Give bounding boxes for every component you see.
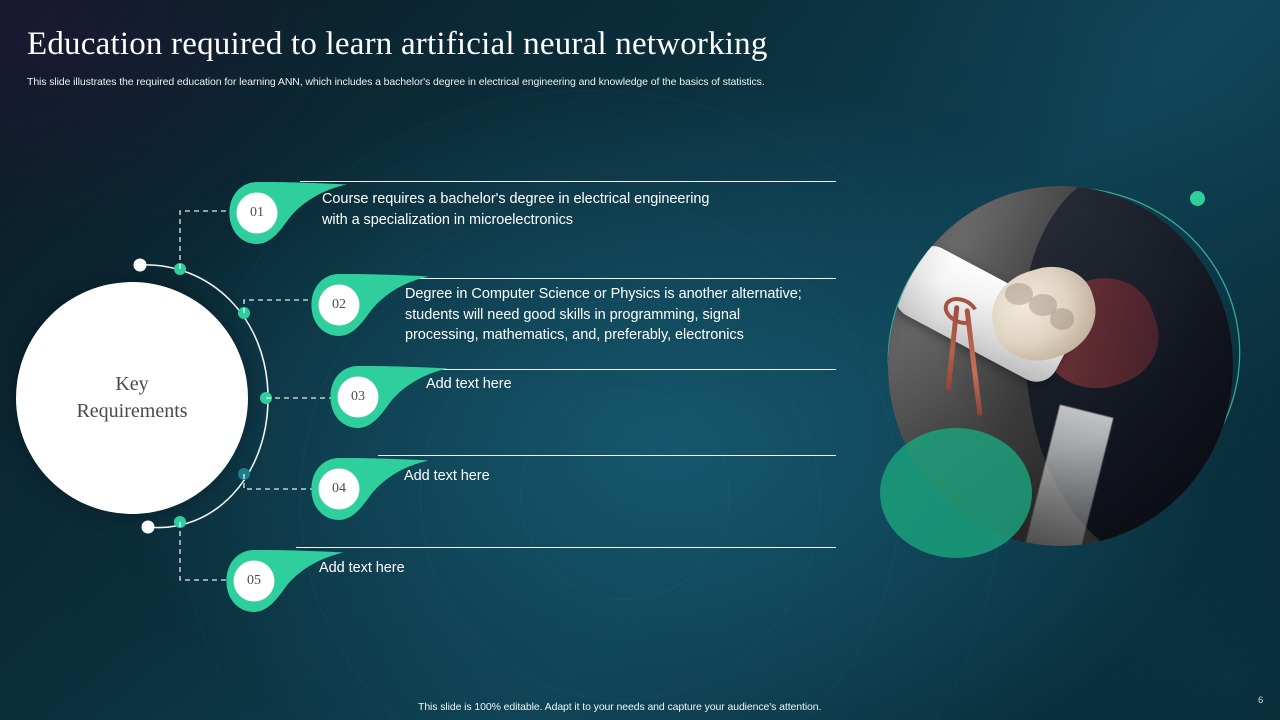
badge-number: 05 xyxy=(234,561,274,601)
key-requirements-line1: Key xyxy=(115,373,148,395)
arc-node-01 xyxy=(174,263,186,275)
row-text: Degree in Computer Science or Physics is… xyxy=(405,284,855,346)
row-text-line2: students will need good skills in progra… xyxy=(405,307,740,323)
page-subtitle: This slide illustrates the required educ… xyxy=(27,75,765,89)
row-text: Add text here xyxy=(426,374,846,395)
row-text-line1: Course requires a bachelor's degree in e… xyxy=(322,191,709,207)
badge-number: 03 xyxy=(338,377,378,417)
ring-accent-dot xyxy=(1190,191,1205,206)
badge-number: 01 xyxy=(237,193,277,233)
row-rule xyxy=(400,369,836,370)
row-text-line3: processing, mathematics, and, preferably… xyxy=(405,327,744,343)
row-rule xyxy=(378,455,836,456)
key-requirements-circle: Key Requirements xyxy=(16,282,248,514)
slide-root: Education required to learn artificial n… xyxy=(0,0,1280,720)
row-rule xyxy=(296,547,836,548)
green-circle-overlay xyxy=(880,428,1032,558)
row-text-line1: Add text here xyxy=(319,560,405,576)
arc-node-04 xyxy=(238,468,250,480)
arc-node-02 xyxy=(238,307,250,319)
row-rule xyxy=(300,181,836,182)
arc-node-03 xyxy=(260,392,272,404)
badge-number: 02 xyxy=(319,285,359,325)
row-text-line1: Add text here xyxy=(426,376,512,392)
row-text-line1: Degree in Computer Science or Physics is… xyxy=(405,286,802,302)
row-text-line1: Add text here xyxy=(404,468,490,484)
footer-note: This slide is 100% editable. Adapt it to… xyxy=(418,701,821,713)
row-rule xyxy=(380,278,836,279)
key-requirements-label: Key Requirements xyxy=(76,371,187,425)
row-text: Course requires a bachelor's degree in e… xyxy=(322,189,842,230)
row-text: Add text here xyxy=(404,466,824,487)
photo-composition xyxy=(880,186,1232,558)
page-title: Education required to learn artificial n… xyxy=(27,24,768,64)
row-text: Add text here xyxy=(319,558,739,579)
key-requirements-line2: Requirements xyxy=(76,400,187,422)
arc-node-05 xyxy=(174,516,186,528)
row-text-line2: with a specialization in microelectronic… xyxy=(322,212,573,228)
page-number: 6 xyxy=(1258,695,1263,706)
badge-number: 04 xyxy=(319,469,359,509)
